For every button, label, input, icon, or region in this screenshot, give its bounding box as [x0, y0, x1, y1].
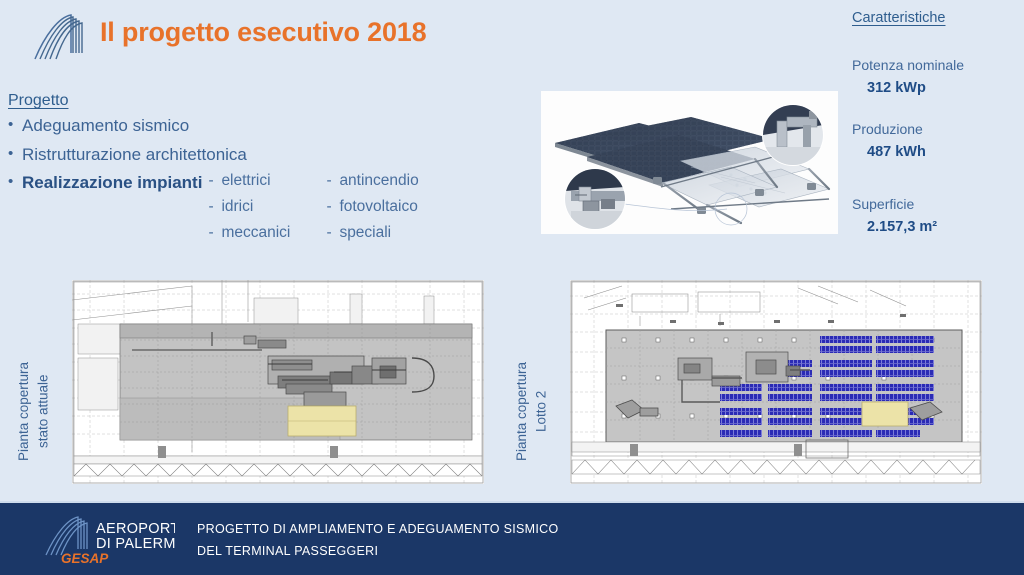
sub-item-label: elettrici: [221, 173, 270, 189]
bullet-dot-icon: •: [8, 173, 22, 190]
page-title: Il progetto esecutivo 2018: [100, 17, 426, 48]
bullet-label: Realizzazione impianti: [22, 173, 202, 193]
dash-icon: -: [326, 199, 339, 215]
spec-label: Potenza nominale: [852, 57, 1017, 75]
dash-icon: -: [326, 173, 339, 189]
impianti-column-2: -antincendio -fotovoltaico -speciali: [326, 173, 456, 251]
sub-item-label: fotovoltaico: [339, 199, 417, 215]
plan-lotto2: [570, 280, 982, 484]
list-item: • Realizzazione impianti -elettrici -idr…: [8, 173, 478, 251]
airport-arch-logo-icon: [31, 9, 93, 61]
spec-item-surface: Superficie 2.157,3 m²: [852, 196, 1017, 236]
list-item: • Ristrutturazione architettonica: [8, 145, 478, 165]
svg-text:GESAP: GESAP: [61, 551, 109, 566]
footer-line-2: DEL TERMINAL PASSEGGERI: [197, 541, 558, 563]
dash-icon: -: [208, 173, 221, 189]
footer-text: PROGETTO DI AMPLIAMENTO E ADEGUAMENTO SI…: [197, 519, 558, 563]
svg-text:DI PALERMO: DI PALERMO: [96, 536, 175, 552]
plan-existing: [72, 280, 484, 484]
photovoltaic-render-image: [541, 91, 838, 234]
bullet-dot-icon: •: [8, 116, 22, 133]
spec-label: Superficie: [852, 196, 1017, 214]
plan-lotto2-label: Pianta copertura Lotto 2: [512, 336, 551, 486]
dash-icon: -: [208, 199, 221, 215]
project-bullet-list: • Adeguamento sismico • Ristrutturazione…: [8, 116, 478, 260]
sub-list-item: -speciali: [326, 225, 456, 251]
gesap-logo: AEROPORTO DI PALERMO GESAP: [40, 511, 175, 567]
project-heading: Progetto: [8, 92, 68, 110]
sub-item-label: speciali: [339, 225, 391, 241]
spec-value: 487 kWh: [867, 144, 1017, 161]
sub-list-item: -antincendio: [326, 173, 456, 199]
svg-text:AEROPORTO: AEROPORTO: [96, 521, 175, 537]
bullet-label: Adeguamento sismico: [22, 116, 189, 136]
dash-icon: -: [208, 225, 221, 241]
sub-item-label: antincendio: [339, 173, 418, 189]
list-item: • Adeguamento sismico: [8, 116, 478, 136]
slide: Il progetto esecutivo 2018 Progetto • Ad…: [0, 0, 1024, 575]
spec-item-production: Produzione 487 kWh: [852, 121, 1017, 161]
sub-list-item: -meccanici: [208, 225, 326, 251]
bullet-dot-icon: •: [8, 145, 22, 162]
slide-footer: AEROPORTO DI PALERMO GESAP PROGETTO DI A…: [0, 501, 1024, 575]
sub-list-item: -elettrici: [208, 173, 326, 199]
spec-value: 2.157,3 m²: [867, 219, 1017, 236]
impianti-column-1: -elettrici -idrici -meccanici: [208, 173, 326, 251]
spec-value: 312 kWp: [867, 80, 1017, 97]
spec-item-power: Potenza nominale 312 kWp: [852, 57, 1017, 97]
spec-label: Produzione: [852, 121, 1017, 139]
sub-item-label: meccanici: [221, 225, 290, 241]
sub-item-label: idrici: [221, 199, 253, 215]
plan-existing-label: Pianta copertura stato attuale: [14, 336, 53, 486]
specs-title: Caratteristiche: [852, 10, 945, 26]
footer-line-1: PROGETTO DI AMPLIAMENTO E ADEGUAMENTO SI…: [197, 519, 558, 541]
sub-list-item: -fotovoltaico: [326, 199, 456, 225]
dash-icon: -: [326, 225, 339, 241]
bullet-label: Ristrutturazione architettonica: [22, 145, 247, 165]
sub-list-item: -idrici: [208, 199, 326, 225]
impianti-sublists: -elettrici -idrici -meccanici -antincend…: [208, 173, 456, 251]
